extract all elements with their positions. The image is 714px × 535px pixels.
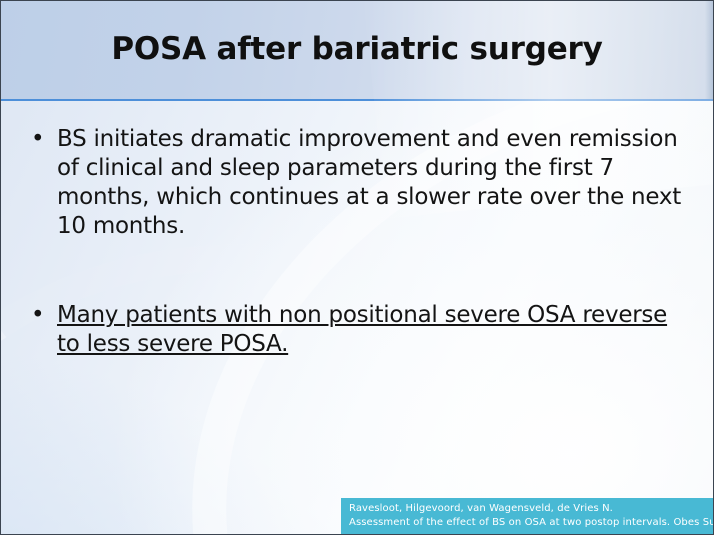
bullet-point-icon: • [31,125,57,154]
bullet-item-text: BS initiates dramatic improvement and ev… [57,125,691,241]
slide-title: POSA after bariatric surgery [1,31,713,67]
citation-box: Ravesloot, Hilgevoord, van Wagensveld, d… [341,498,714,535]
citation-reference: Assessment of the effect of BS on OSA at… [349,516,714,530]
citation-authors: Ravesloot, Hilgevoord, van Wagensveld, d… [349,502,714,516]
bullet-item: • Many patients with non positional seve… [31,301,691,359]
bullet-item-text: Many patients with non positional severe… [57,301,691,359]
slide-body: • BS initiates dramatic improvement and … [31,125,691,359]
presentation-slide: POSA after bariatric surgery • BS initia… [0,0,714,535]
bullet-item: • BS initiates dramatic improvement and … [31,125,691,241]
bullet-point-icon: • [31,301,57,330]
